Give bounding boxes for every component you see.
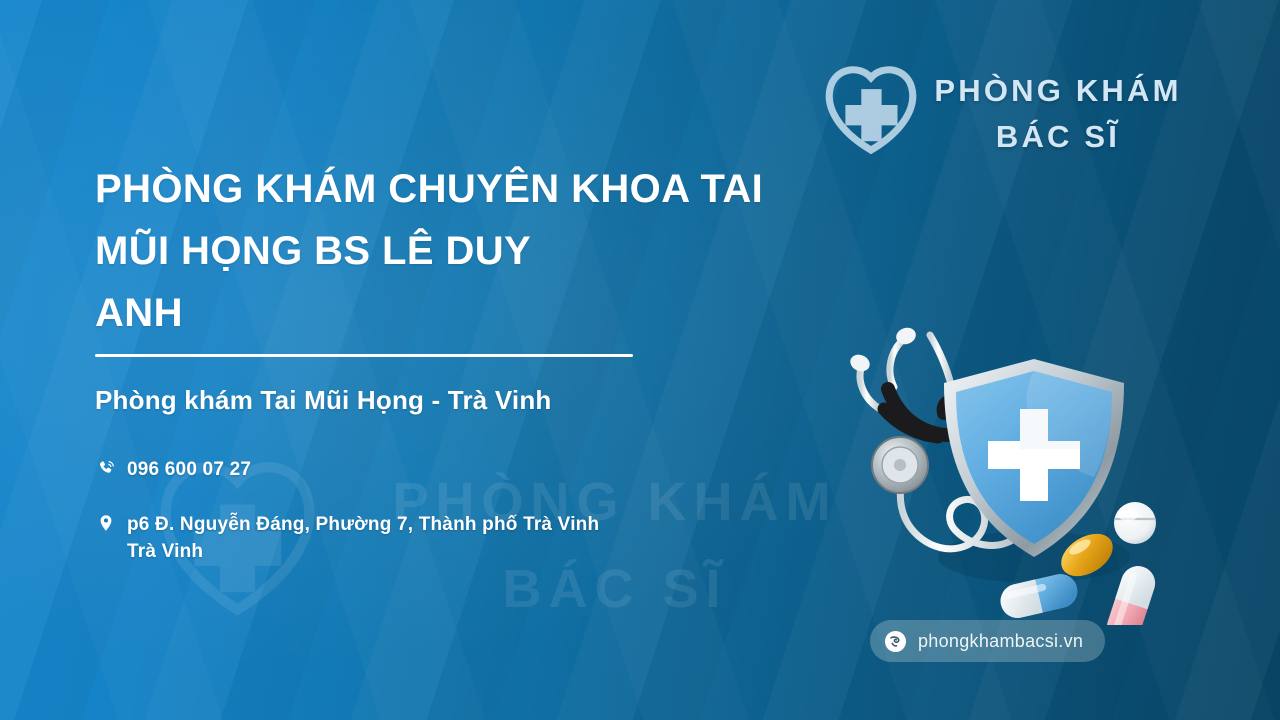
address-line-1: p6 Đ. Nguyễn Đáng, Phường 7, Thành phố T… xyxy=(127,514,599,535)
title-divider xyxy=(95,354,633,357)
medical-illustration xyxy=(838,325,1188,625)
clinic-subtitle: Phòng khám Tai Mũi Họng - Trà Vinh xyxy=(95,385,552,416)
phone-number: 096 600 07 27 xyxy=(127,456,251,483)
location-pin-icon xyxy=(95,511,117,535)
globe-icon xyxy=(884,630,907,653)
phone-row[interactable]: 096 600 07 27 xyxy=(95,456,251,483)
brand-logo-line-2: BÁC SĨ xyxy=(930,114,1186,160)
clinic-banner: PHÒNG KHÁM BÁC SĨ PHÒNG KHÁM BÁC SĨ PHÒN… xyxy=(0,0,1280,720)
website-pill[interactable]: phongkhambacsi.vn xyxy=(870,620,1105,662)
page-title: PHÒNG KHÁM CHUYÊN KHOA TAI MŨI HỌNG BS L… xyxy=(95,158,855,344)
medical-cross-heart-icon xyxy=(818,60,924,166)
page-title-line-3: ANH xyxy=(95,282,855,344)
address-row[interactable]: p6 Đ. Nguyễn Đáng, Phường 7, Thành phố T… xyxy=(95,511,795,565)
phone-call-icon xyxy=(95,456,117,480)
page-title-line-2: MŨI HỌNG BS LÊ DUY xyxy=(95,220,855,282)
address-text: p6 Đ. Nguyễn Đáng, Phường 7, Thành phố T… xyxy=(127,511,599,565)
brand-logo-line-1: PHÒNG KHÁM xyxy=(930,68,1186,114)
website-url: phongkhambacsi.vn xyxy=(918,631,1083,652)
address-line-2: Trà Vinh xyxy=(127,541,203,562)
white-tablet xyxy=(1114,502,1156,544)
page-title-line-1: PHÒNG KHÁM CHUYÊN KHOA TAI xyxy=(95,158,855,220)
medical-shield-cross xyxy=(944,359,1124,557)
brand-logo-text: PHÒNG KHÁM BÁC SĨ xyxy=(930,68,1186,160)
brand-logo: PHÒNG KHÁM BÁC SĨ xyxy=(818,58,1188,170)
